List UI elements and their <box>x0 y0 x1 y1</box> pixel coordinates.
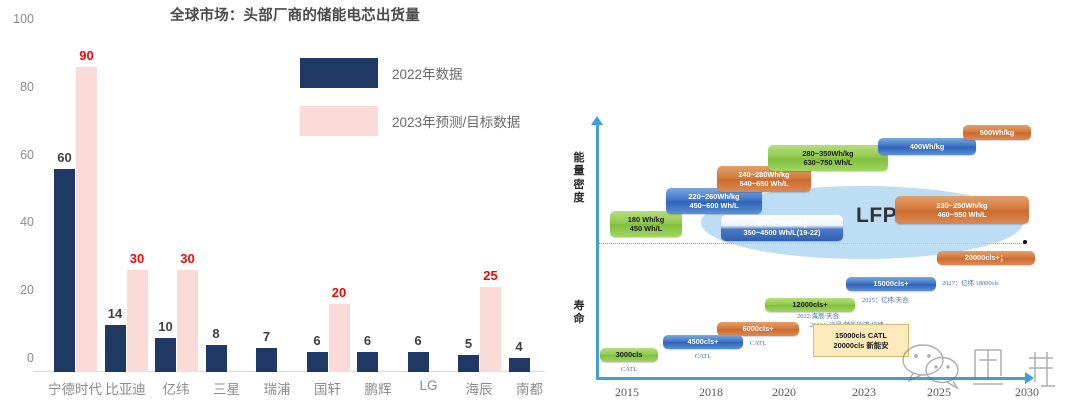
yellow-box-line-2: 20000cls 新能安 <box>833 341 888 351</box>
roadmap-panel: 能量密度 寿命 LFP 180 Wh/kg 450 Wh/L 220~260Wh… <box>565 0 1080 416</box>
pill-line-1: 180 Wh/kg <box>628 215 665 224</box>
pill-sub-3000cls: CATL <box>600 366 658 373</box>
bar-2023 <box>76 67 97 372</box>
bar-2022 <box>458 355 479 372</box>
pill-life-15000cls: 15000cls+ <box>846 277 936 291</box>
wechat-watermark-icon <box>895 336 1075 398</box>
pill-line-1: 220~260Wh/kg <box>688 192 739 201</box>
bar-value-label-2022: 8 <box>212 326 219 341</box>
pill-energy-280-350: 280~350Wh/kg 630~750 Wh/L <box>768 145 888 171</box>
pill-energy-500: 500Wh/kg <box>963 125 1031 140</box>
bar-2022 <box>509 358 530 372</box>
pill-life-20000cls: 20000cls+； <box>937 251 1035 265</box>
note-2022: 2022:海辰/天合 <box>797 311 839 320</box>
pill-energy-180: 180 Wh/kg 450 Wh/L <box>610 211 682 237</box>
bar-value-label-2023: 90 <box>79 48 93 63</box>
pill-sub-4500cls: CATL <box>663 353 743 360</box>
pill-life-4500cls: 4500cls+ <box>663 335 743 349</box>
y-tick-80: 80 <box>20 80 34 94</box>
roadmap-year-label: 2025 <box>927 385 951 400</box>
x-axis-label: 宁德时代 <box>48 378 102 398</box>
pill-life-3000cls: 3000cls <box>600 348 658 362</box>
bar-group: 8 <box>206 33 249 372</box>
highlight-box-catl-xinnengan: 15000cls CATL 20000cls 新能安 <box>813 324 909 357</box>
x-axis-label: 国轩 <box>314 378 341 398</box>
bar-value-label-2022: 5 <box>465 336 472 351</box>
bar-value-label-2022: 6 <box>414 333 421 348</box>
y-tick-0: 0 <box>27 351 34 365</box>
roadmap-x-axis-arrow-icon <box>1025 372 1034 384</box>
pill-energy-180-200-lfp: 180~200Wh/kg 350~4500 Wh/L(19-22) <box>721 215 843 241</box>
bar-value-label-2022: 6 <box>313 333 320 348</box>
pill-line-2: 460~550 Wh/L <box>937 210 986 219</box>
pill-line-2: 450 Wh/L <box>630 224 662 233</box>
x-axis-label: 三星 <box>213 378 240 398</box>
y-tick-100: 100 <box>13 12 34 26</box>
dotted-line-end-dot <box>1023 240 1027 244</box>
y-tick-40: 40 <box>20 215 34 229</box>
bar-2023 <box>329 304 350 372</box>
pill-energy-400: 400Wh/kg <box>878 138 976 155</box>
bar-value-label-2022: 14 <box>108 306 122 321</box>
y-tick-20: 20 <box>20 283 34 297</box>
roadmap-year-label: 2020 <box>772 385 796 400</box>
pill-line-2: 350~4500 Wh/L(19-22) <box>743 228 820 237</box>
bar-2023 <box>127 270 148 372</box>
pill-line-1: 230~250Wh/kg <box>936 201 987 210</box>
pill-life-6000cls: 6000cls+ <box>717 322 799 336</box>
bar-group: 6090 <box>54 33 97 372</box>
lfp-label: LFP <box>856 204 897 228</box>
bar-value-label-2022: 4 <box>515 339 522 354</box>
bar-value-label-2023: 30 <box>180 251 194 266</box>
pill-line-1: 180~200Wh/kg <box>756 219 807 228</box>
roadmap-year-label: 2023 <box>852 385 876 400</box>
legend-item-2023: 2023年预测/目标数据 <box>300 106 520 136</box>
pill-label: 3000cls <box>616 350 643 359</box>
bar-2022 <box>105 325 126 372</box>
x-axis-label: 海辰 <box>466 378 493 398</box>
bar-group: 7 <box>256 33 299 372</box>
bar-2022 <box>206 345 227 372</box>
pill-line-1: 400Wh/kg <box>910 142 945 151</box>
bar-value-label-2022: 10 <box>158 319 172 334</box>
bar-value-label-2022: 60 <box>57 150 71 165</box>
note-2025: 2025：亿纬/天合 <box>862 295 909 304</box>
pill-label: 15000cls+ <box>873 279 908 288</box>
roadmap-x-axis <box>596 377 1028 380</box>
roadmap-year-label: 2015 <box>615 385 639 400</box>
legend-label-2023: 2023年预测/目标数据 <box>392 111 520 131</box>
bar-group: 1430 <box>105 33 148 372</box>
pill-line-2: 630~750 Wh/L <box>803 158 852 167</box>
bar-group: 1030 <box>155 33 198 372</box>
pill-line-2: 540~650 Wh/L <box>739 179 788 188</box>
yellow-box-line-1: 15000cls CATL <box>835 331 887 341</box>
pill-line-2: 450~600 Wh/L <box>689 201 738 210</box>
roadmap-y-axis <box>596 122 599 379</box>
y-axis-label-lifespan: 寿命 <box>571 300 587 327</box>
bar-2022 <box>408 352 429 372</box>
x-axis-label: 南都 <box>516 378 543 398</box>
bar-chart-panel: 全球市场：头部厂商的储能电芯出货量 100 80 60 40 20 0 6090… <box>0 0 565 416</box>
bar-value-label-2023: 25 <box>483 268 497 283</box>
bar-value-label-2023: 20 <box>332 285 346 300</box>
y-tick-60: 60 <box>20 148 34 162</box>
bar-2022 <box>307 352 328 372</box>
legend-swatch-2023 <box>300 106 378 136</box>
screenshot-root: 全球市场：头部厂商的储能电芯出货量 100 80 60 40 20 0 6090… <box>0 0 1080 416</box>
roadmap-year-label: 2018 <box>699 385 723 400</box>
bar-2022 <box>54 169 75 372</box>
roadmap-y-axis-arrow-icon <box>591 116 603 125</box>
pill-energy-230-250-lfp: 230~250Wh/kg 460~550 Wh/L <box>895 196 1029 224</box>
bar-value-label-2022: 6 <box>364 333 371 348</box>
pill-label: 6000cls+ <box>742 324 773 333</box>
bar-2023 <box>177 270 198 372</box>
legend-item-2022: 2022年数据 <box>300 58 520 88</box>
bar-2022 <box>256 348 277 372</box>
note-2027: 2027：亿纬 18000cls <box>942 278 999 287</box>
pill-label: 12000cls+ <box>792 300 827 309</box>
legend-swatch-2022 <box>300 58 378 88</box>
bar-2022 <box>357 352 378 372</box>
x-axis-label: 瑞浦 <box>264 378 291 398</box>
x-axis-label: 鹏辉 <box>365 378 392 398</box>
pill-label: 20000cls+； <box>965 253 1008 262</box>
x-axis-label: 比亚迪 <box>105 378 146 398</box>
page-title: 全球市场：头部厂商的储能电芯出货量 <box>130 4 460 25</box>
pill-line-1: 280~350Wh/kg <box>802 149 853 158</box>
axis-tick-mark <box>33 371 40 373</box>
pill-label: 4500cls+ <box>687 337 718 346</box>
bar-2023 <box>480 287 501 372</box>
roadmap-year-label: 2030 <box>1015 385 1039 400</box>
bar-value-label-2022: 7 <box>263 329 270 344</box>
x-axis-label: LG <box>419 378 437 393</box>
pill-life-12000cls: 12000cls+ <box>765 298 855 312</box>
bar-2022 <box>155 338 176 372</box>
x-axis-label: 亿纬 <box>163 378 190 398</box>
legend-label-2022: 2022年数据 <box>392 63 463 83</box>
bar-value-label-2023: 30 <box>130 251 144 266</box>
y-axis-label-energy-density: 能量密度 <box>571 152 587 206</box>
chart-legend: 2022年数据 2023年预测/目标数据 <box>300 58 520 154</box>
pill-line-1: 500Wh/kg <box>980 128 1015 137</box>
